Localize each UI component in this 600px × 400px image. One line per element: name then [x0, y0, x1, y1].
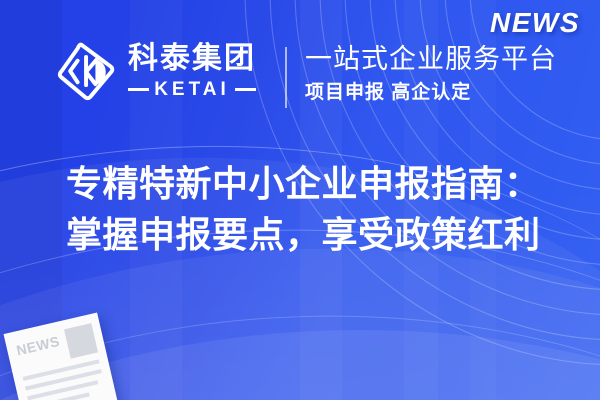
logo-wordmark: 科泰集团 KETAI — [128, 44, 256, 99]
brand-logo[interactable]: 科泰集团 KETAI — [57, 40, 256, 102]
header-divider — [285, 47, 287, 108]
logo-en-row: KETAI — [128, 80, 256, 99]
tagline-sub: 项目申报 高企认定 — [305, 82, 557, 105]
logo-company-cn: 科泰集团 — [128, 44, 256, 74]
newspaper-card: NEWS — [4, 313, 121, 400]
news-banner: 科泰集团 KETAI 一站式企业服务平台 项目申报 高企认定 NEWS 专精特新… — [0, 0, 600, 400]
newspaper-thumbnail-icon — [64, 323, 98, 359]
tagline-block: 一站式企业服务平台 项目申报 高企认定 — [305, 44, 557, 105]
banner-header: 科泰集团 KETAI 一站式企业服务平台 项目申报 高企认定 NEWS — [0, 0, 600, 140]
logo-company-en: KETAI — [154, 80, 230, 99]
logo-rule-left — [128, 88, 149, 91]
page-title: 专精特新中小企业申报指南：掌握申报要点，享受政策红利 — [66, 158, 566, 260]
news-badge: NEWS — [490, 7, 580, 39]
logo-rule-right — [235, 88, 256, 91]
ketai-diamond-kd-icon — [57, 40, 117, 102]
newspaper-card-title: NEWS — [14, 331, 61, 357]
tagline-main: 一站式企业服务平台 — [305, 44, 557, 76]
